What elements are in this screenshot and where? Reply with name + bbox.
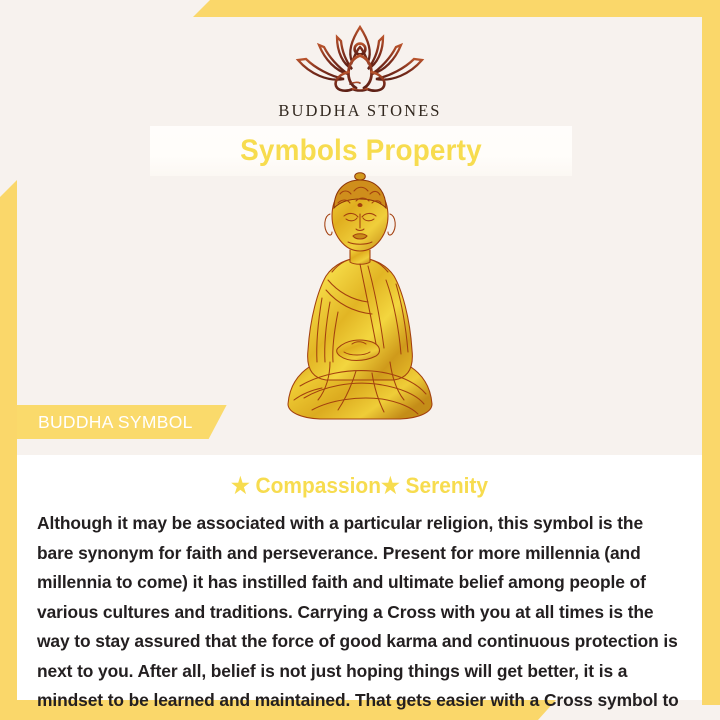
panel-body-text: Although it may be associated with a par…	[27, 505, 692, 720]
decorative-left-bar	[0, 180, 17, 703]
brand-name: BUDDHA STONES	[278, 101, 441, 121]
infographic-page: BUDDHA STONES Symbols Property	[0, 0, 720, 720]
page-title: Symbols Property	[240, 134, 482, 168]
panel-heading: ★ Compassion★ Serenity	[44, 473, 676, 499]
lotus-meditation-icon	[280, 22, 440, 96]
brand-block: BUDDHA STONES	[0, 22, 720, 121]
ribbon-label: BUDDHA SYMBOL	[38, 412, 193, 433]
golden-buddha-statue	[260, 172, 460, 434]
decorative-top-bar	[193, 0, 720, 17]
content-panel: ★ Compassion★ Serenity Although it may b…	[17, 455, 702, 700]
title-band: Symbols Property	[150, 126, 572, 176]
buddha-symbol-ribbon: BUDDHA SYMBOL	[17, 405, 227, 439]
